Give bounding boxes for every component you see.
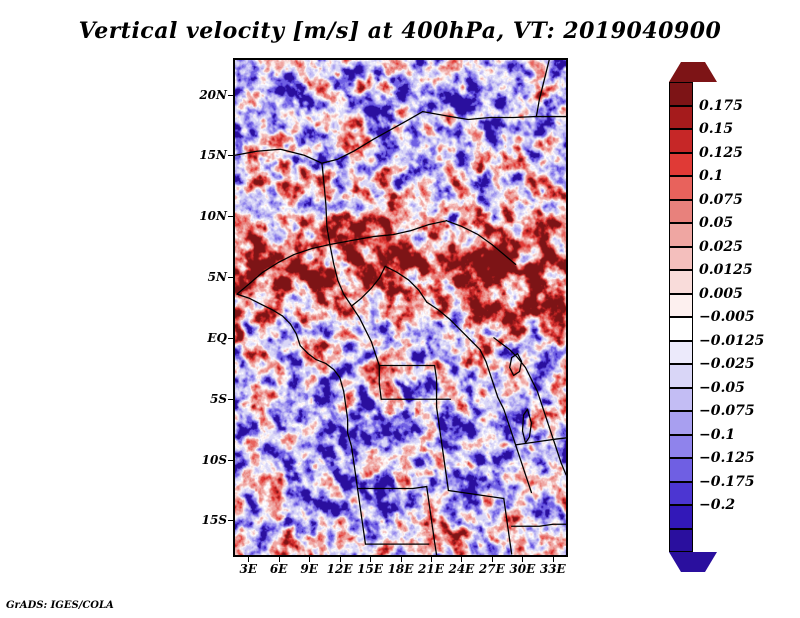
- x-tick-label: 15E: [357, 562, 383, 576]
- y-tick-label: 15S: [202, 513, 227, 527]
- y-tick-label: EQ: [207, 331, 227, 345]
- colorbar-max-arrow: [669, 62, 717, 82]
- x-tick-label: 18E: [388, 562, 414, 576]
- colorbar-tick-label: −0.2: [699, 497, 735, 513]
- colorbar-tick-label: −0.125: [699, 450, 755, 466]
- colorbar: 0.1750.150.1250.10.0750.050.0250.01250.0…: [669, 60, 799, 560]
- colorbar-tick-label: 0.025: [699, 239, 743, 255]
- x-tick-label: 21E: [418, 562, 444, 576]
- x-tick-mark: [309, 557, 310, 562]
- colorbar-tick-label: 0.075: [699, 192, 743, 208]
- colorbar-tick-label: −0.0125: [699, 333, 764, 349]
- x-tick-mark: [279, 557, 280, 562]
- colorbar-segment: [669, 388, 693, 412]
- country-borders-overlay: [235, 60, 566, 555]
- colorbar-tick-label: −0.025: [699, 356, 755, 372]
- x-tick-label: 9E: [300, 562, 318, 576]
- colorbar-tick-label: 0.125: [699, 145, 743, 161]
- x-tick-label: 24E: [448, 562, 474, 576]
- colorbar-segment: [669, 247, 693, 271]
- y-tick-mark: [228, 460, 233, 461]
- colorbar-segment: [669, 458, 693, 482]
- colorbar-segment: [669, 482, 693, 506]
- colorbar-segment: [669, 129, 693, 153]
- colorbar-tick-label: −0.175: [699, 474, 755, 490]
- colorbar-tick-label: 0.0125: [699, 262, 753, 278]
- colorbar-tick-label: −0.005: [699, 309, 755, 325]
- colorbar-segment: [669, 294, 693, 318]
- colorbar-tick-label: 0.005: [699, 286, 743, 302]
- x-tick-label: 30E: [509, 562, 535, 576]
- x-tick-label: 27E: [479, 562, 505, 576]
- x-tick-mark: [248, 557, 249, 562]
- y-tick-label: 10N: [199, 209, 227, 223]
- x-tick-label: 3E: [239, 562, 257, 576]
- colorbar-tick-label: −0.05: [699, 380, 745, 396]
- colorbar-segment: [669, 364, 693, 388]
- y-tick-label: 20N: [199, 88, 227, 102]
- y-tick-mark: [228, 216, 233, 217]
- x-tick-mark: [431, 557, 432, 562]
- grads-watermark: GrADS: IGES/COLA: [6, 600, 114, 611]
- x-tick-mark: [461, 557, 462, 562]
- y-tick-mark: [228, 520, 233, 521]
- colorbar-segment: [669, 505, 693, 529]
- colorbar-min-arrow: [669, 552, 717, 572]
- x-tick-mark: [370, 557, 371, 562]
- colorbar-tick-label: 0.05: [699, 215, 733, 231]
- colorbar-segment: [669, 270, 693, 294]
- x-tick-label: 6E: [270, 562, 288, 576]
- colorbar-segment: [669, 82, 693, 106]
- colorbar-segment: [669, 341, 693, 365]
- colorbar-segment: [669, 106, 693, 130]
- y-tick-mark: [228, 277, 233, 278]
- y-axis-labels: 20N15N10N5NEQ5S10S15S: [183, 0, 227, 618]
- colorbar-tick-label: 0.175: [699, 98, 743, 114]
- x-tick-mark: [492, 557, 493, 562]
- y-tick-label: 10S: [202, 453, 227, 467]
- y-tick-label: 5N: [208, 270, 227, 284]
- x-tick-mark: [522, 557, 523, 562]
- colorbar-segment: [669, 317, 693, 341]
- colorbar-segment: [669, 200, 693, 224]
- colorbar-segment: [669, 529, 693, 553]
- x-tick-mark: [340, 557, 341, 562]
- map-plot-area: [233, 58, 568, 557]
- colorbar-segment: [669, 435, 693, 459]
- colorbar-tick-label: 0.1: [699, 168, 723, 184]
- colorbar-segment: [669, 411, 693, 435]
- colorbar-tick-label: −0.075: [699, 403, 755, 419]
- y-tick-label: 15N: [199, 148, 227, 162]
- x-tick-label: 12E: [327, 562, 353, 576]
- y-tick-mark: [228, 155, 233, 156]
- colorbar-tick-label: 0.15: [699, 121, 733, 137]
- colorbar-segment: [669, 223, 693, 247]
- colorbar-segment: [669, 153, 693, 177]
- y-tick-label: 5S: [210, 392, 227, 406]
- x-tick-mark: [553, 557, 554, 562]
- x-tick-mark: [401, 557, 402, 562]
- colorbar-segment: [669, 176, 693, 200]
- x-tick-label: 33E: [540, 562, 566, 576]
- y-tick-mark: [228, 399, 233, 400]
- y-tick-mark: [228, 95, 233, 96]
- page-title: Vertical velocity [m/s] at 400hPa, VT: 2…: [0, 18, 800, 44]
- y-tick-mark: [228, 338, 233, 339]
- colorbar-tick-label: −0.1: [699, 427, 735, 443]
